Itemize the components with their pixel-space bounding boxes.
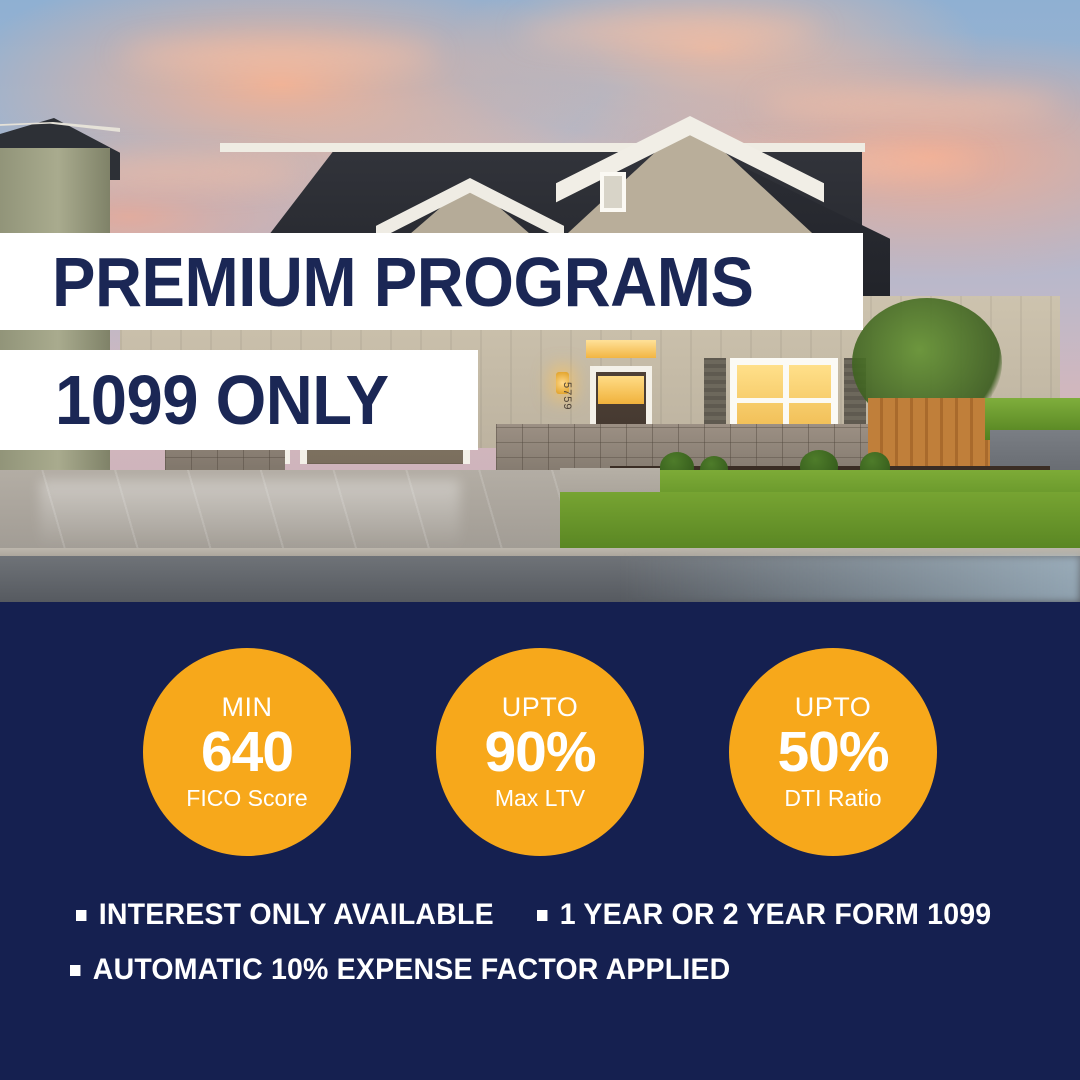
front-door-glass (598, 376, 644, 404)
feature-list: INTEREST ONLY AVAILABLE 1 YEAR OR 2 YEAR… (0, 898, 1080, 1008)
roof-ridge (220, 143, 865, 152)
list-item-label: 1 YEAR OR 2 YEAR FORM 1099 (560, 898, 992, 932)
headline-banner-secondary: 1099 ONLY (0, 350, 478, 450)
badge-label: DTI Ratio (784, 787, 881, 810)
page-title: PREMIUM PROGRAMS (52, 242, 753, 322)
badge-value: 90% (484, 721, 595, 785)
feature-row-1: INTEREST ONLY AVAILABLE 1 YEAR OR 2 YEAR… (0, 898, 1080, 953)
badge-value: 50% (777, 721, 888, 785)
window-mullion-horizontal (730, 398, 838, 403)
list-item-label: INTEREST ONLY AVAILABLE (99, 898, 494, 932)
list-item-label: AUTOMATIC 10% EXPENSE FACTOR APPLIED (93, 953, 731, 987)
bullet-square-icon (70, 965, 80, 976)
list-item: 1 YEAR OR 2 YEAR FORM 1099 (537, 898, 991, 932)
badge-qualifier: UPTO (502, 694, 579, 721)
feature-row-2: AUTOMATIC 10% EXPENSE FACTOR APPLIED (0, 953, 1080, 1008)
stat-badge-fico: MIN 640 FICO Score (143, 648, 351, 856)
headline-banner-primary: PREMIUM PROGRAMS (0, 233, 863, 330)
driveway-reflection (40, 480, 460, 550)
door-transom-light (586, 340, 656, 358)
cloud-streak (760, 90, 1060, 118)
details-panel: MIN 640 FICO Score UPTO 90% Max LTV UPTO… (0, 602, 1080, 1080)
cloud-streak (520, 18, 820, 44)
badge-label: Max LTV (495, 787, 585, 810)
bullet-square-icon (76, 910, 86, 921)
bullet-square-icon (537, 910, 547, 921)
badge-qualifier: UPTO (795, 694, 872, 721)
stat-badges: MIN 640 FICO Score UPTO 90% Max LTV UPTO… (0, 648, 1080, 856)
list-item: AUTOMATIC 10% EXPENSE FACTOR APPLIED (70, 953, 730, 987)
promo-poster: 5759 PREMIUM PROGRAMS 1099 ONLY (0, 0, 1080, 1080)
badge-label: FICO Score (186, 787, 307, 810)
page-subtitle: 1099 ONLY (55, 360, 389, 440)
house-number: 5759 (561, 382, 573, 410)
stat-badge-dti: UPTO 50% DTI Ratio (729, 648, 937, 856)
attic-window (600, 172, 626, 212)
list-item: INTEREST ONLY AVAILABLE (76, 898, 494, 932)
street-reflection (620, 556, 1080, 602)
stat-badge-ltv: UPTO 90% Max LTV (436, 648, 644, 856)
badge-value: 640 (201, 721, 293, 785)
cloud-streak (120, 40, 440, 70)
badge-qualifier: MIN (222, 694, 273, 721)
